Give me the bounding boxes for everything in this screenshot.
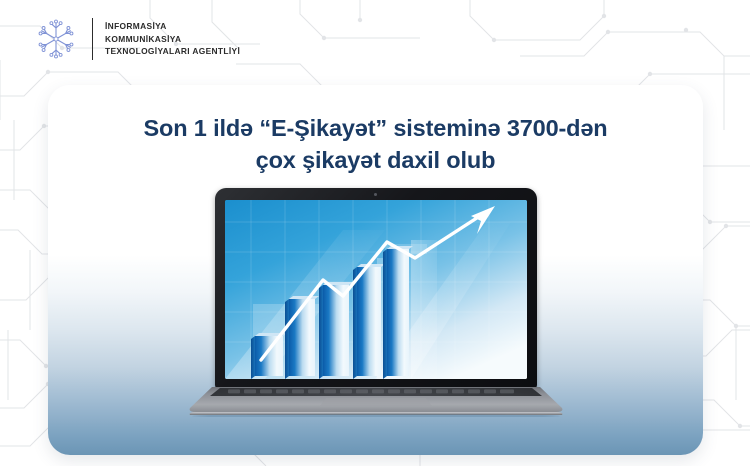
agency-name-line-2: KOMMUNİKASİYA xyxy=(105,33,240,46)
webcam-dot xyxy=(374,193,377,196)
content-card: Son 1 ildə “E-Şikayət” sisteminə 3700-də… xyxy=(48,85,703,455)
agency-name-line-3: TEXNOLOGİYALARI AGENTLİYİ xyxy=(105,45,240,58)
page-title: Son 1 ildə “E-Şikayət” sisteminə 3700-də… xyxy=(48,112,703,176)
laptop-base xyxy=(186,387,566,417)
laptop-illustration xyxy=(186,188,566,433)
brand-divider xyxy=(92,18,93,60)
brand-lockup: İNFORMASİYA KOMMUNİKASİYA TEXNOLOGİYALAR… xyxy=(33,16,240,62)
poster-canvas: .trace { fill:none; stroke:#e2e4e7; stro… xyxy=(0,0,750,466)
agency-name: İNFORMASİYA KOMMUNİKASİYA TEXNOLOGİYALAR… xyxy=(105,20,240,58)
page-title-line-1: Son 1 ildə “E-Şikayət” sisteminə 3700-də… xyxy=(78,112,673,144)
agency-name-line-1: İNFORMASİYA xyxy=(105,20,240,33)
laptop-lid xyxy=(215,188,537,389)
snowflake-network-icon xyxy=(33,16,79,62)
page-title-line-2: çox şikayət daxil olub xyxy=(78,144,673,176)
growth-chart-graphic xyxy=(225,200,527,379)
page-header: İNFORMASİYA KOMMUNİKASİYA TEXNOLOGİYALAR… xyxy=(0,0,750,78)
laptop-screen xyxy=(225,200,527,379)
